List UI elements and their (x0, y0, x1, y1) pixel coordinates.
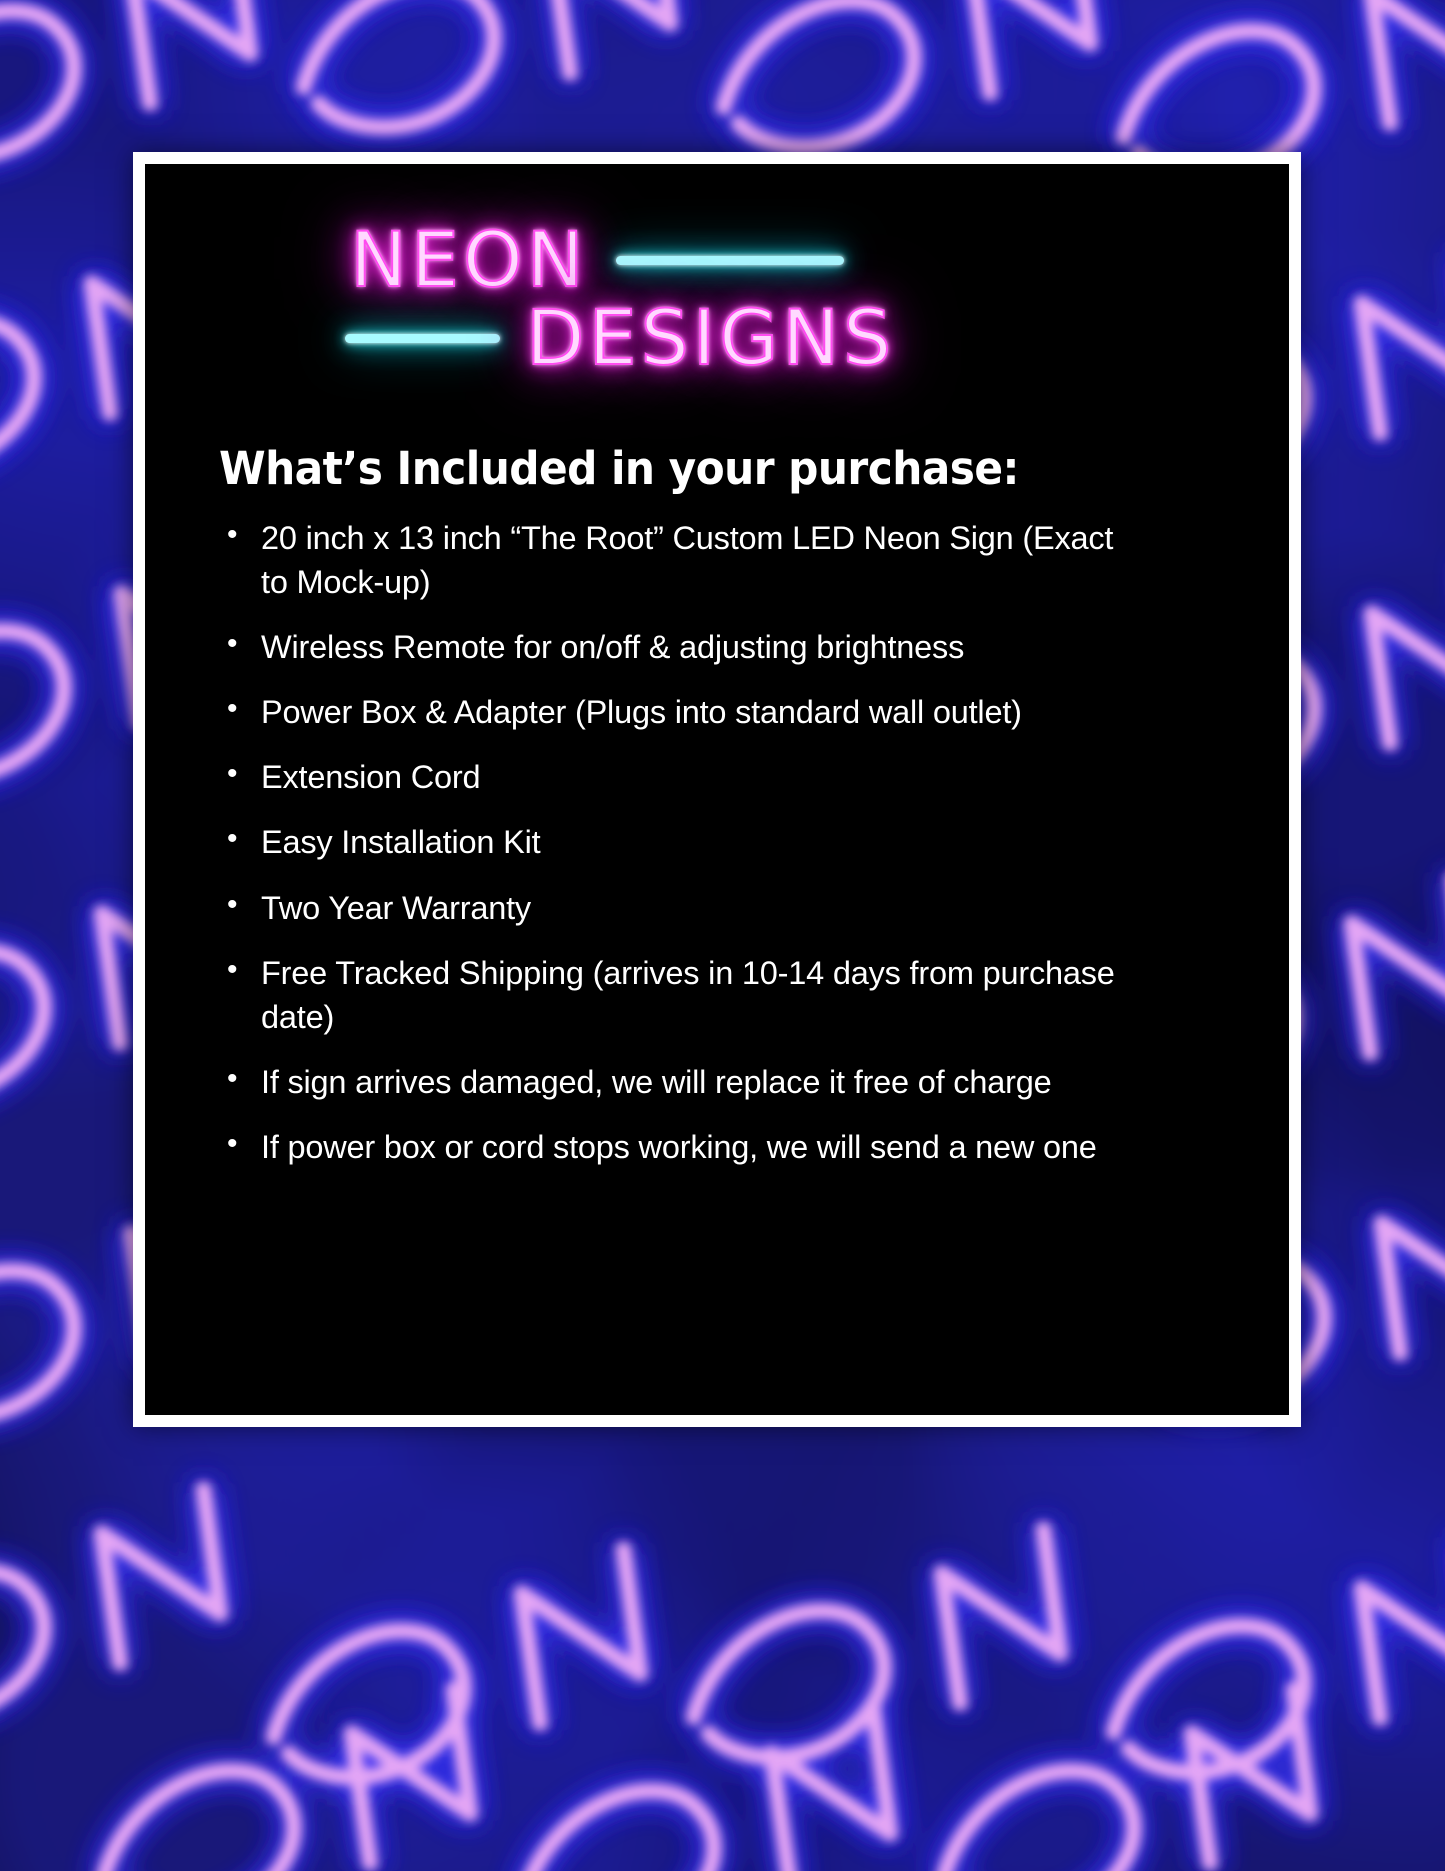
page-title: What’s Included in your purchase: (219, 444, 1172, 494)
list-item: If sign arrives damaged, we will replace… (219, 1060, 1116, 1104)
logo-row-designs: DESIGNS (345, 300, 895, 376)
list-item: Easy Installation Kit (219, 820, 1116, 864)
card-content: What’s Included in your purchase: 20 inc… (145, 444, 1289, 1170)
list-item: If power box or cord stops working, we w… (219, 1125, 1116, 1169)
card-body: NEON DESIGNS What’s Included in your pur… (145, 164, 1289, 1415)
list-item: Free Tracked Shipping (arrives in 10-14 … (219, 951, 1116, 1039)
logo-word-neon: NEON (350, 222, 588, 298)
list-item: Extension Cord (219, 755, 1116, 799)
list-item: 20 inch x 13 inch “The Root” Custom LED … (219, 516, 1116, 604)
included-items-list: 20 inch x 13 inch “The Root” Custom LED … (219, 516, 1233, 1170)
list-item: Wireless Remote for on/off & adjusting b… (219, 625, 1116, 669)
logo-word-designs: DESIGNS (526, 300, 895, 376)
list-item: Power Box & Adapter (Plugs into standard… (219, 690, 1116, 734)
card-white-frame: NEON DESIGNS What’s Included in your pur… (133, 152, 1301, 1427)
neon-designs-logo: NEON DESIGNS (145, 212, 1289, 442)
list-item: Two Year Warranty (219, 886, 1116, 930)
cyan-bar-right-icon (616, 256, 844, 265)
poster-page: NEON DESIGNS What’s Included in your pur… (0, 0, 1445, 1871)
cyan-bar-left-icon (345, 334, 500, 343)
logo-row-neon: NEON (350, 222, 844, 298)
